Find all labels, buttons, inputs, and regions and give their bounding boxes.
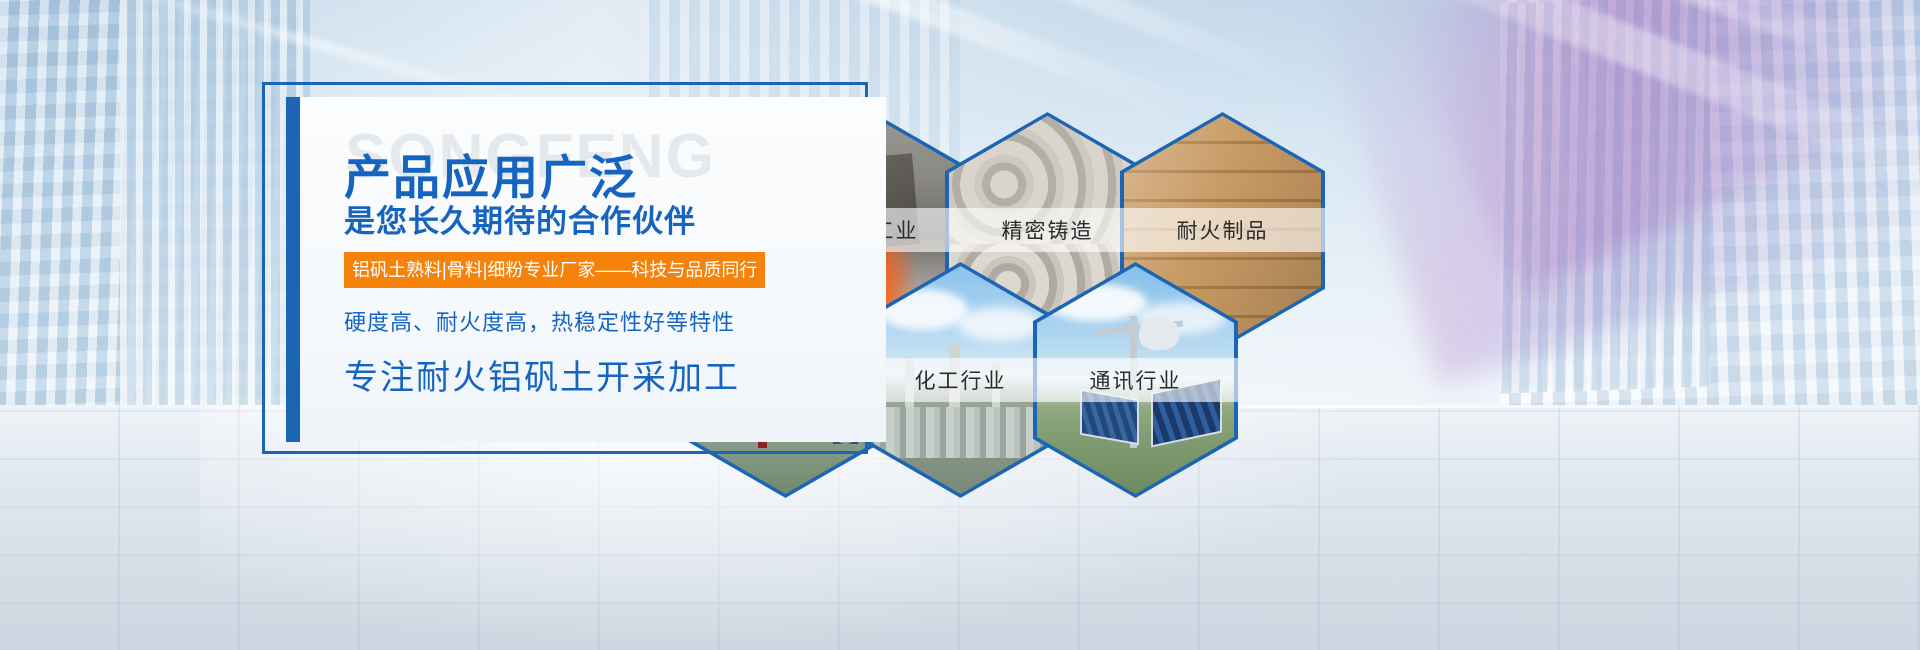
hex-label: 精密铸造 [945,208,1150,252]
hex-label: 通讯行业 [1033,358,1238,402]
page-subtitle: 是您长久期待的合作伙伴 [344,196,696,241]
hex-label: 耐火制品 [1120,208,1325,252]
tagline-badge: 铝矾土熟料|骨料|细粉专业厂家——科技与品质同行 [344,252,765,288]
feature-text: 硬度高、耐火度高，热稳定性好等特性 [344,305,735,337]
text-panel-content: SONGFENG 产品应用广泛 是您长久期待的合作伙伴 铝矾土熟料|骨料|细粉专… [300,97,900,442]
business-headline: 专注耐火铝矾土开采加工 [344,350,740,399]
hero-banner: 炼铝工业 精密铸造 耐火制品 [0,0,1920,650]
